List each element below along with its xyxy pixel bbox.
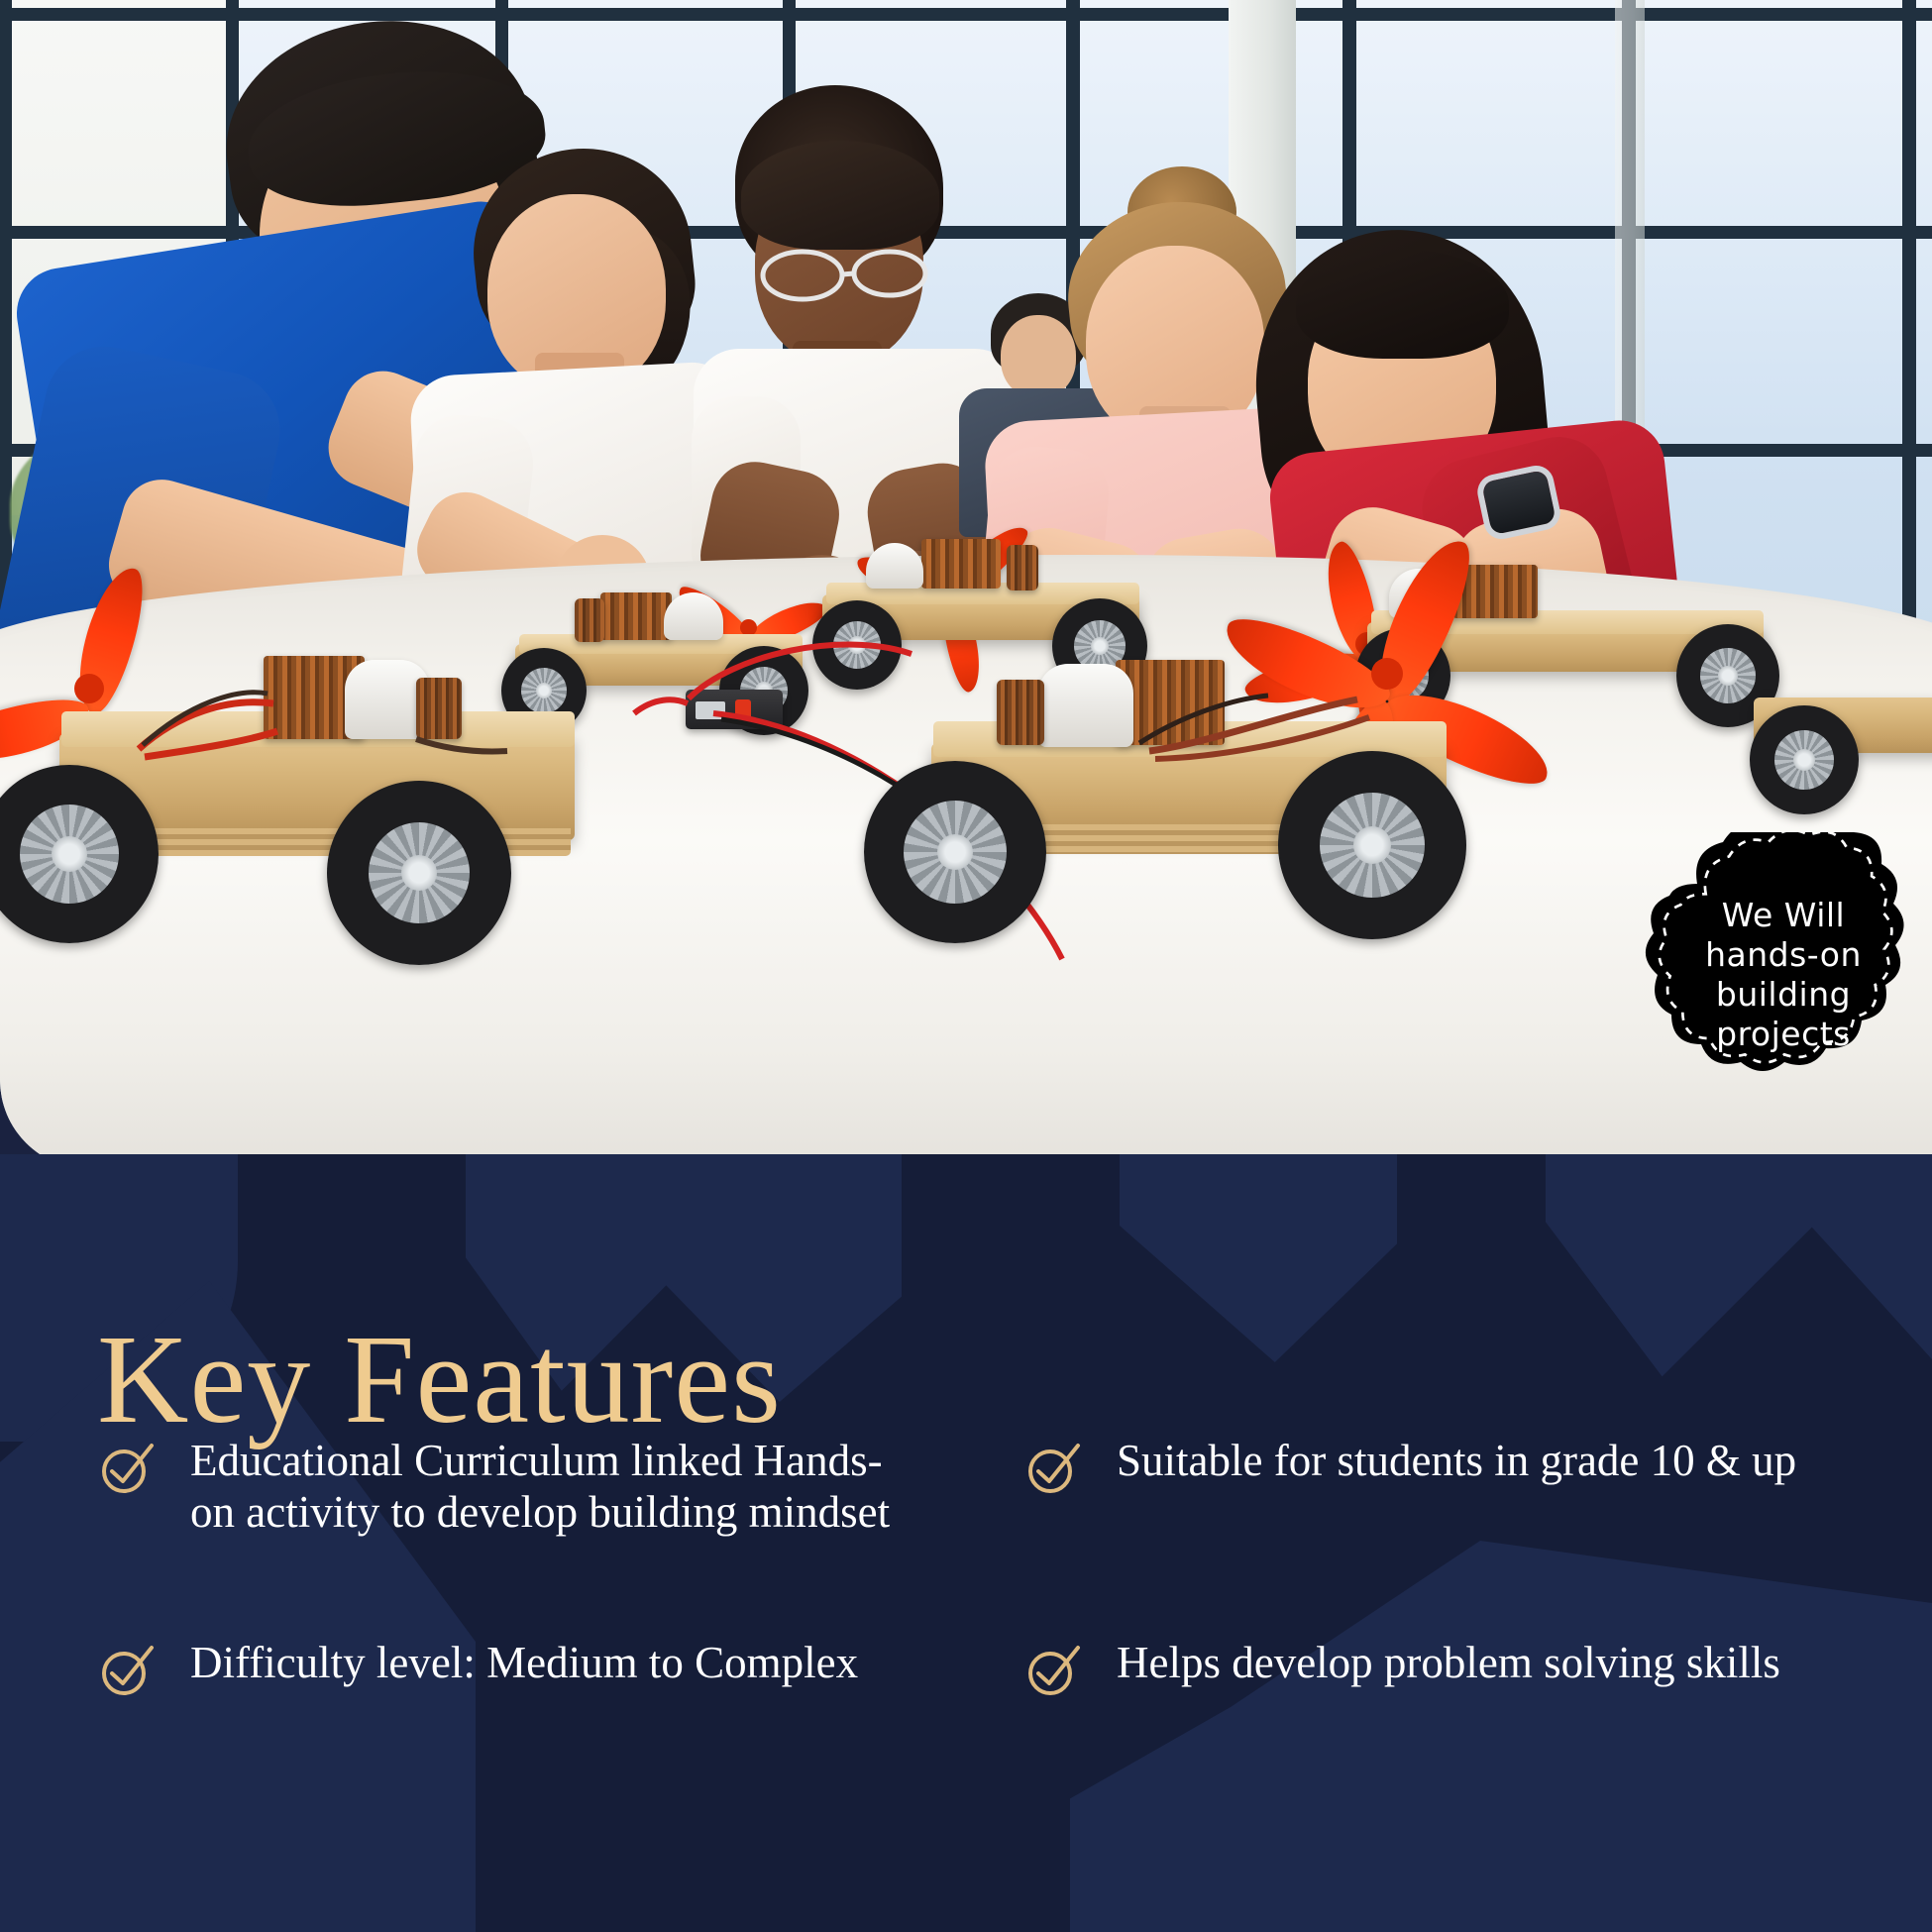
check-circle-icon	[1025, 1441, 1083, 1498]
feature-item-problem-solving: Helps develop problem solving skills	[1025, 1637, 1873, 1700]
car-wheel	[1750, 705, 1859, 814]
hair-front	[741, 141, 939, 250]
check-circle-icon	[1025, 1643, 1083, 1700]
car-wiring	[119, 654, 535, 783]
feature-item-grade-suitability: Suitable for students in grade 10 & up	[1025, 1435, 1873, 1538]
car-wiring	[1110, 648, 1486, 787]
feature-text: Difficulty level: Medium to Complex	[190, 1637, 858, 1688]
check-circle-icon	[99, 1643, 157, 1700]
classroom-photo: We Will hands-on building projects	[0, 0, 1932, 1169]
badge-text: We Will hands-on building projects	[1640, 896, 1927, 1054]
key-features-panel: Key Features Educational Curriculum link…	[0, 1154, 1932, 1932]
glasses-icon	[755, 246, 933, 305]
badge-line-3: building	[1640, 975, 1927, 1015]
battery-coil	[575, 598, 604, 642]
head	[1001, 315, 1076, 398]
car-wheel	[1278, 751, 1466, 939]
check-circle-icon	[99, 1441, 157, 1498]
car-wheel	[327, 781, 511, 965]
bg-shape	[1120, 1154, 1397, 1362]
badge-line-1: We Will	[1640, 896, 1927, 935]
hair-front	[1296, 250, 1509, 359]
motor-coil	[921, 539, 1001, 589]
page-title: Key Features	[97, 1316, 782, 1443]
feature-item-difficulty-level: Difficulty level: Medium to Complex	[99, 1637, 946, 1700]
battery-coil	[1007, 545, 1038, 590]
key-features-poster: We Will hands-on building projects Key F…	[0, 0, 1932, 1932]
feature-text: Helps develop problem solving skills	[1117, 1637, 1780, 1688]
propeller-hub	[74, 674, 104, 703]
badge-line-2: hands-on	[1640, 935, 1927, 975]
wheel-hub	[937, 834, 973, 870]
car-wheel	[864, 761, 1046, 943]
wheel-hub	[1718, 666, 1738, 686]
wheel-hub	[1793, 749, 1815, 771]
window-mullion-v	[1902, 0, 1916, 694]
wheel-hub	[52, 836, 87, 872]
feature-text: Educational Curriculum linked Hands-on a…	[190, 1435, 923, 1538]
badge-line-4: projects	[1640, 1015, 1927, 1054]
feature-text: Suitable for students in grade 10 & up	[1117, 1435, 1796, 1486]
battery-coil	[997, 680, 1044, 745]
features-grid: Educational Curriculum linked Hands-on a…	[99, 1435, 1873, 1700]
wheel-hub	[536, 683, 552, 698]
we-will-badge: We Will hands-on building projects	[1640, 832, 1927, 1139]
feature-item-educational-curriculum: Educational Curriculum linked Hands-on a…	[99, 1435, 946, 1538]
wheel-hub	[401, 855, 437, 891]
bg-shape	[1546, 1154, 1932, 1392]
wheel-hub	[1353, 826, 1391, 864]
